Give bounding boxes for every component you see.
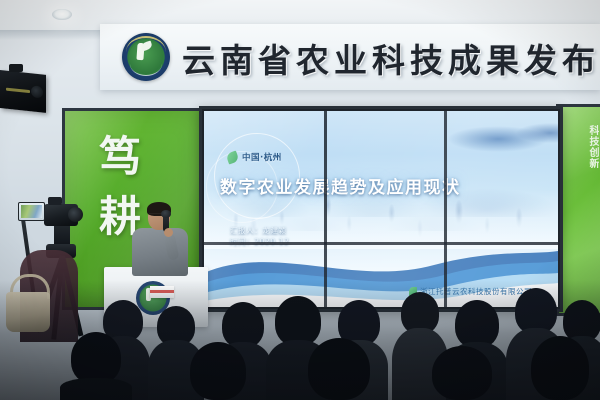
audience-member bbox=[420, 346, 504, 400]
right-panel-text: 科技创新 bbox=[585, 125, 599, 185]
leaf-icon bbox=[225, 150, 239, 164]
audience-member bbox=[178, 342, 258, 400]
microphone-head bbox=[161, 210, 171, 218]
bezel-seam-horizontal-1 bbox=[204, 242, 558, 245]
slide-location-badge: 中国·杭州 bbox=[227, 151, 282, 163]
audience-member bbox=[520, 336, 600, 400]
academy-emblem-icon bbox=[122, 33, 170, 81]
emblem-bottom-arc-text bbox=[130, 64, 162, 76]
hall-banner: 云南省农业科技成果发布厅 bbox=[100, 24, 600, 90]
presenter-hand bbox=[164, 228, 173, 237]
slide-badge-text: 中国·杭州 bbox=[242, 151, 282, 163]
ceiling-downlight-icon bbox=[52, 9, 72, 20]
bezel-seam-vertical-2 bbox=[444, 111, 447, 307]
slide-company-name: 浙江托普云农科技股份有限公司 bbox=[420, 286, 532, 297]
slide-main-title: 数字农业发展趋势及应用现状 bbox=[220, 173, 461, 198]
panel-character-1: 笃 bbox=[99, 123, 141, 184]
video-wall-display: 中国·杭州 数字农业发展趋势及应用现状 汇报人：龙建颖 时间：2020.12 浙… bbox=[199, 106, 563, 312]
audience-member bbox=[60, 332, 132, 400]
presentation-slide: 中国·杭州 数字农业发展趋势及应用现状 汇报人：龙建颖 时间：2020.12 浙… bbox=[204, 111, 558, 307]
camera-neck bbox=[54, 224, 70, 246]
papers-on-podium bbox=[150, 286, 174, 298]
ink-cloud bbox=[408, 117, 558, 157]
wall-speaker-icon bbox=[0, 70, 46, 113]
camera-lcd-screen bbox=[18, 202, 45, 221]
presenter-torso bbox=[132, 228, 188, 276]
audience-member bbox=[296, 338, 382, 400]
presentation-hall-photo: 云南省农业科技成果发布厅 笃 耕 科技创新 bbox=[0, 0, 600, 400]
handbag bbox=[6, 292, 50, 332]
slide-presenter: 汇报人：龙建颖 bbox=[230, 225, 290, 236]
speaker-cone bbox=[31, 85, 43, 98]
camera-lens-icon bbox=[68, 207, 83, 222]
hall-banner-title: 云南省农业科技成果发布厅 bbox=[182, 34, 600, 82]
emblem-top-arc-text bbox=[126, 36, 166, 52]
camera-top-handle bbox=[48, 197, 62, 205]
speaker-mount-bracket bbox=[9, 64, 23, 72]
speaker-grill-bar bbox=[6, 88, 30, 94]
bezel-seam-vertical-1 bbox=[324, 111, 327, 307]
camera-lcd-image bbox=[21, 205, 42, 218]
